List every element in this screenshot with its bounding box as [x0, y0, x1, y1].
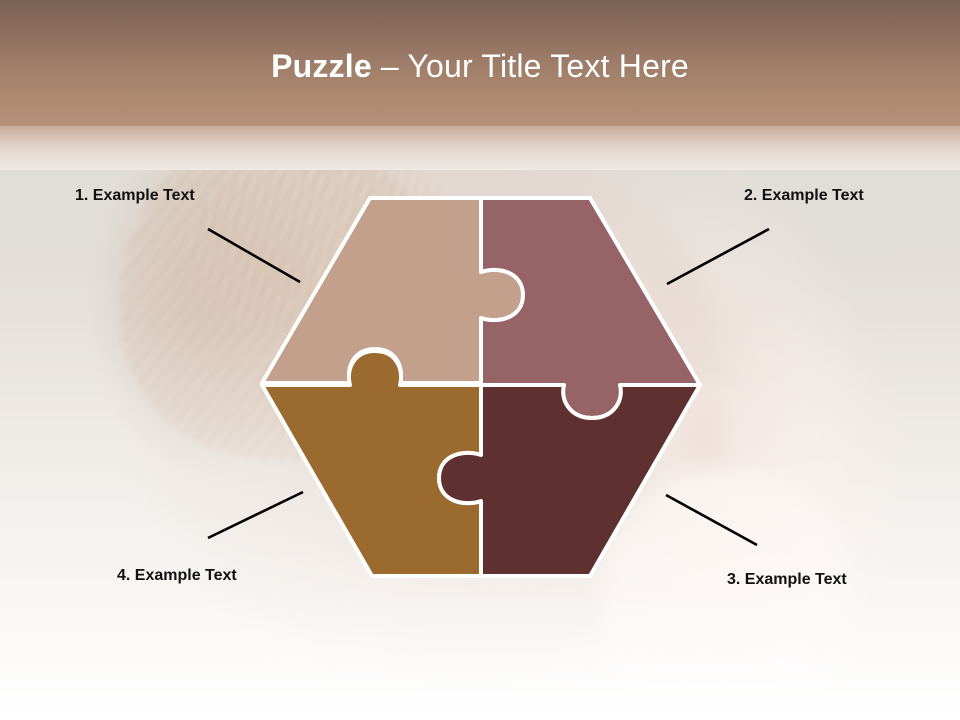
slide-canvas: Puzzle – Your Title Text Here 1. Example… — [0, 0, 960, 720]
callout-label-3[interactable]: 3. Example Text — [727, 570, 847, 590]
callout-label-2[interactable]: 2. Example Text — [744, 186, 864, 206]
puzzle-diagram — [0, 0, 960, 720]
callout-label-1[interactable]: 1. Example Text — [75, 186, 195, 206]
callout-label-4[interactable]: 4. Example Text — [117, 566, 237, 586]
